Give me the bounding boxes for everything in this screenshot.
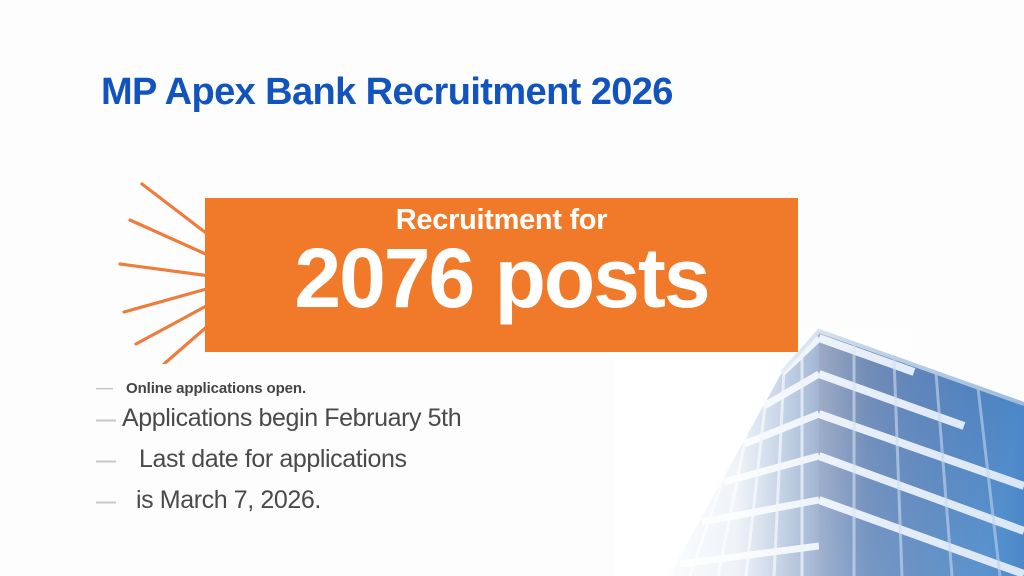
slide-canvas: MP Apex Bank Recruitment 2026 Recruitmen… bbox=[0, 0, 1024, 576]
dash-bullet-icon: — bbox=[96, 409, 122, 432]
dash-bullet-icon: — bbox=[96, 378, 126, 398]
recruitment-posts-banner: Recruitment for 2076 posts bbox=[205, 198, 798, 352]
list-item-label: Last date for applications bbox=[139, 445, 407, 474]
list-item: — Last date for applications bbox=[96, 445, 656, 486]
office-building-photo bbox=[614, 326, 1024, 576]
list-item-label: is March 7, 2026. bbox=[136, 486, 321, 515]
list-item: — Online applications open. bbox=[96, 378, 656, 404]
list-item-label: Online applications open. bbox=[126, 380, 306, 397]
list-item: — is March 7, 2026. bbox=[96, 486, 656, 527]
list-item: — Applications begin February 5th bbox=[96, 404, 656, 445]
dash-bullet-icon: — bbox=[96, 450, 139, 473]
banner-headline: 2076 posts bbox=[205, 234, 798, 322]
details-bullet-list: — Online applications open. — Applicatio… bbox=[96, 378, 656, 527]
starburst-rays-icon bbox=[118, 172, 214, 364]
list-item-label: Applications begin February 5th bbox=[122, 404, 461, 433]
dash-bullet-icon: — bbox=[96, 491, 136, 514]
page-title: MP Apex Bank Recruitment 2026 bbox=[101, 71, 673, 114]
